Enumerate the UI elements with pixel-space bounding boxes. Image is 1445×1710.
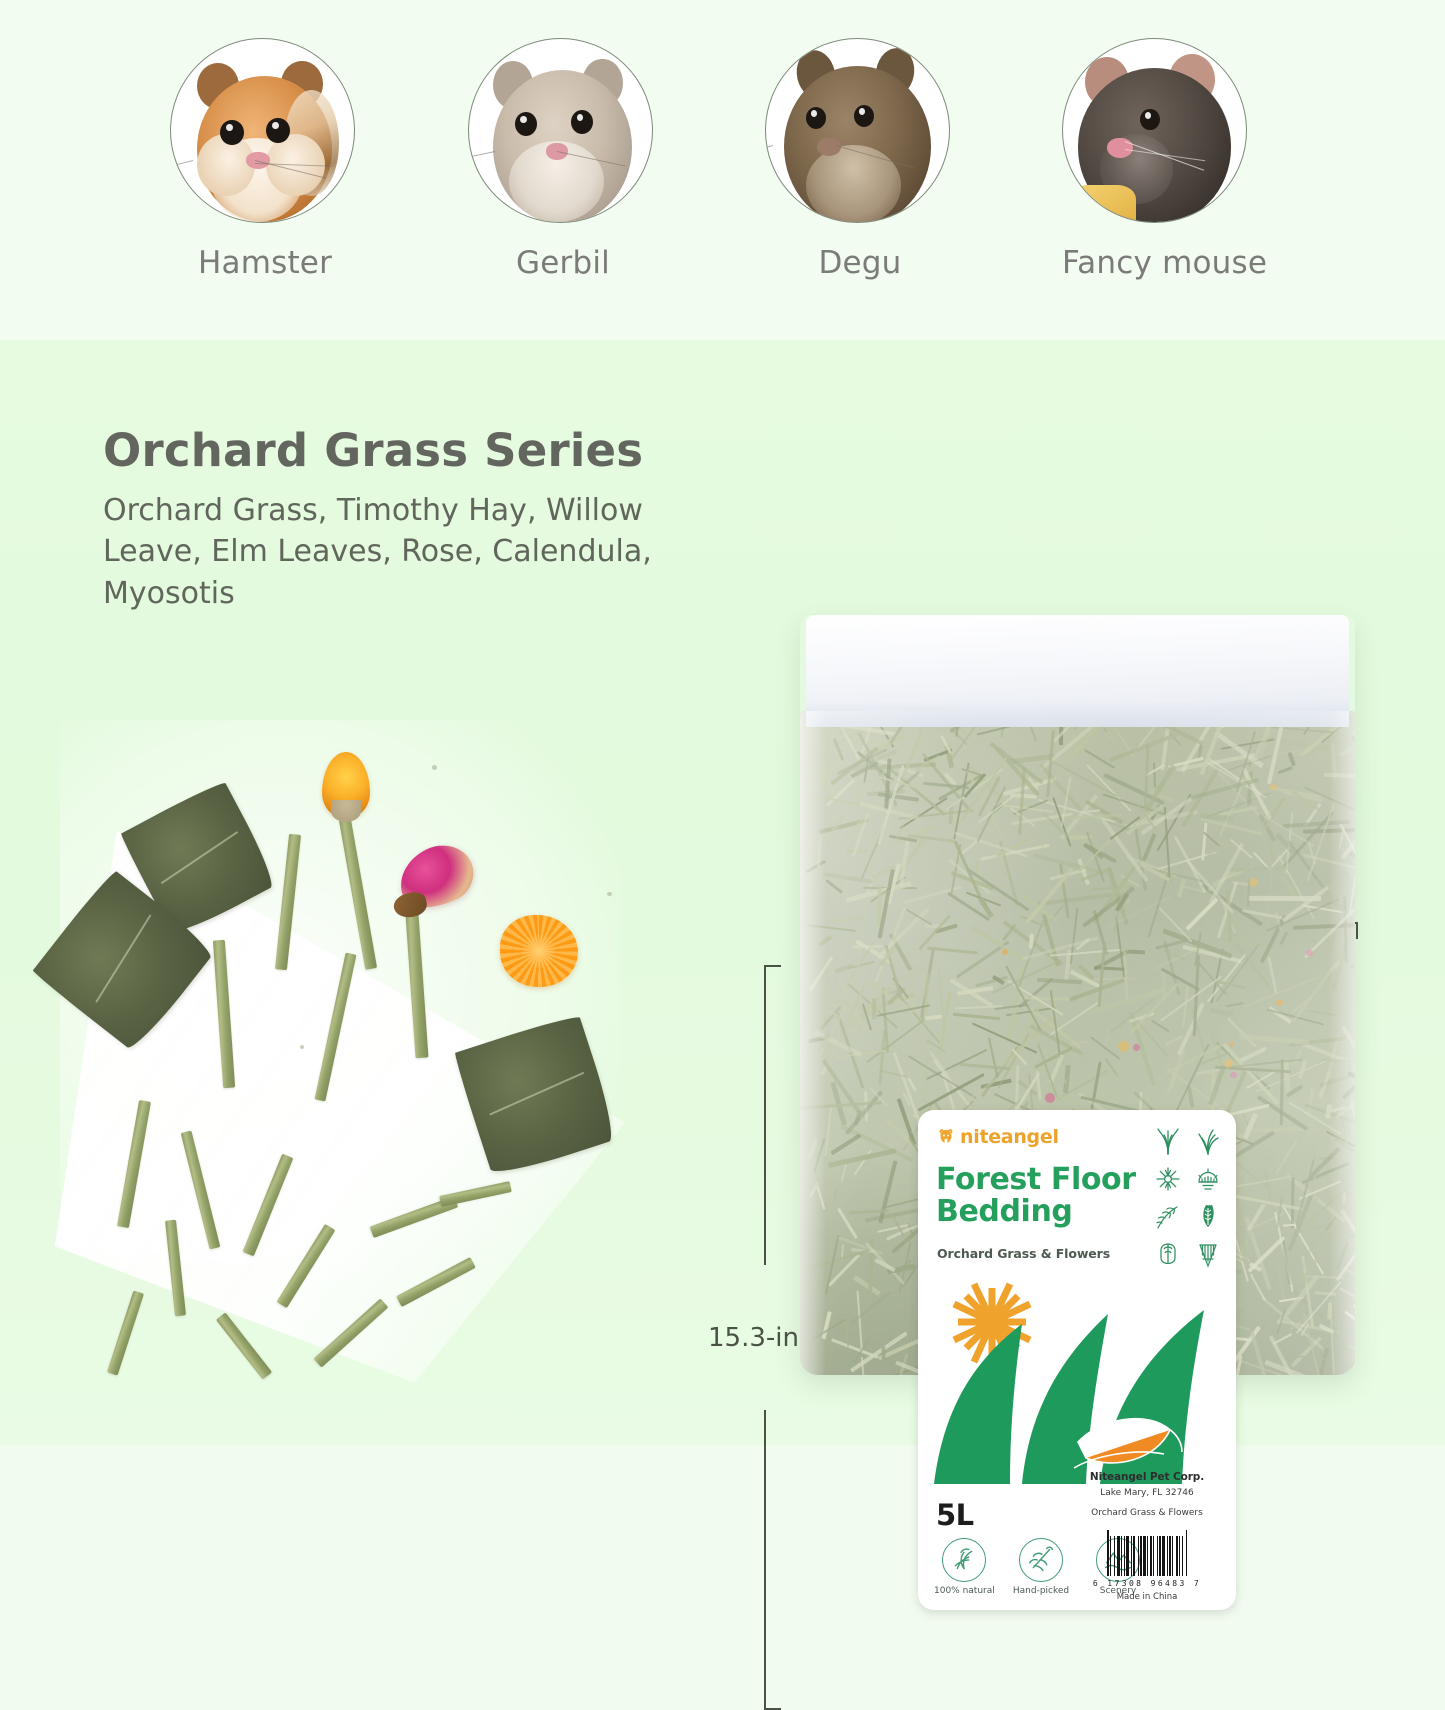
page-title: Orchard Grass Series (103, 424, 643, 477)
contents-note: Orchard Grass & Flowers (1072, 1508, 1222, 1518)
product-title-line1: Forest Floor (936, 1164, 1172, 1196)
gerbil-photo (468, 38, 653, 223)
bag-top-seal (806, 615, 1349, 727)
calendula-flower (500, 915, 578, 987)
dimension-height: 15.3-in (712, 965, 812, 1710)
eye-icon (806, 107, 826, 129)
pet-item-hamster: Hamster (170, 38, 360, 281)
pet-label: Fancy mouse (1062, 245, 1252, 281)
origin-label: Made in China (1072, 1592, 1222, 1602)
feature-handpicked: Hand-picked (1011, 1538, 1071, 1596)
ingredient-description: Orchard Grass, Timothy Hay, Willow Leave… (103, 490, 683, 614)
barcode (1072, 1530, 1222, 1576)
eye-icon (266, 118, 290, 144)
daisy-flower-icon (1152, 1164, 1184, 1194)
pet-label: Degu (765, 245, 955, 281)
fancy-mouse-photo (1062, 38, 1247, 223)
pet-types-section: Hamster Gerbil (0, 0, 1445, 340)
degu-photo (765, 38, 950, 223)
product-package: niteangel Forest Floor Bedding Orchard G… (800, 615, 1355, 1375)
rosebud-icon (1152, 1240, 1184, 1270)
pet-label: Gerbil (468, 245, 658, 281)
grass-blades-icon (1192, 1126, 1224, 1156)
pet-item-fancy-mouse: Fancy mouse (1062, 38, 1252, 281)
barcode-number: 6 17308 96483 7 (1072, 1579, 1222, 1588)
pet-item-degu: Degu (765, 38, 955, 281)
product-title: Forest Floor Bedding (936, 1164, 1172, 1229)
eye-icon (854, 105, 874, 127)
food-piece (1074, 185, 1136, 223)
pet-label: Hamster (170, 245, 360, 281)
product-subtitle: Orchard Grass & Flowers (937, 1246, 1110, 1261)
feature-label: Hand-picked (1011, 1586, 1071, 1596)
product-infographic: Hamster Gerbil (0, 0, 1445, 1445)
product-detail-section: Orchard Grass Series Orchard Grass, Timo… (0, 340, 1445, 1445)
nose-icon (1107, 138, 1133, 158)
brand-name: niteangel (960, 1126, 1059, 1148)
product-title-line2: Bedding (936, 1196, 1172, 1228)
brand-logo: niteangel (936, 1126, 1059, 1148)
ingredient-icon-grid (1152, 1126, 1226, 1270)
pet-list: Hamster Gerbil (0, 38, 1445, 308)
herb-sprig-icon (1152, 1202, 1184, 1232)
company-address: Lake Mary, FL 32746 (1072, 1488, 1222, 1498)
hay-stalk (107, 1290, 144, 1375)
feature-label: 100% natural (934, 1586, 994, 1596)
eye-icon (220, 120, 244, 146)
company-name: Niteangel Pet Corp. (1072, 1471, 1222, 1483)
marigold-flower-icon (1192, 1164, 1224, 1194)
hand-picking-icon (1019, 1538, 1063, 1582)
niteangel-hamster-icon (936, 1127, 956, 1147)
volume-label: 5L (936, 1498, 974, 1532)
sprout-in-circle-icon (942, 1538, 986, 1582)
dimension-height-label: 15.3-in (708, 1323, 799, 1353)
label-artwork (918, 1270, 1236, 1492)
eye-icon (515, 112, 537, 136)
hamster-photo (170, 38, 355, 223)
company-info: Niteangel Pet Corp. Lake Mary, FL 32746 … (1072, 1471, 1222, 1518)
wheat-bundle-icon (1192, 1240, 1224, 1270)
package-front-label: niteangel Forest Floor Bedding Orchard G… (918, 1110, 1236, 1610)
feature-natural: 100% natural (934, 1538, 994, 1596)
pet-item-gerbil: Gerbil (468, 38, 658, 281)
grass-tuft-icon (1152, 1126, 1184, 1156)
leaf-icon (1192, 1202, 1224, 1232)
